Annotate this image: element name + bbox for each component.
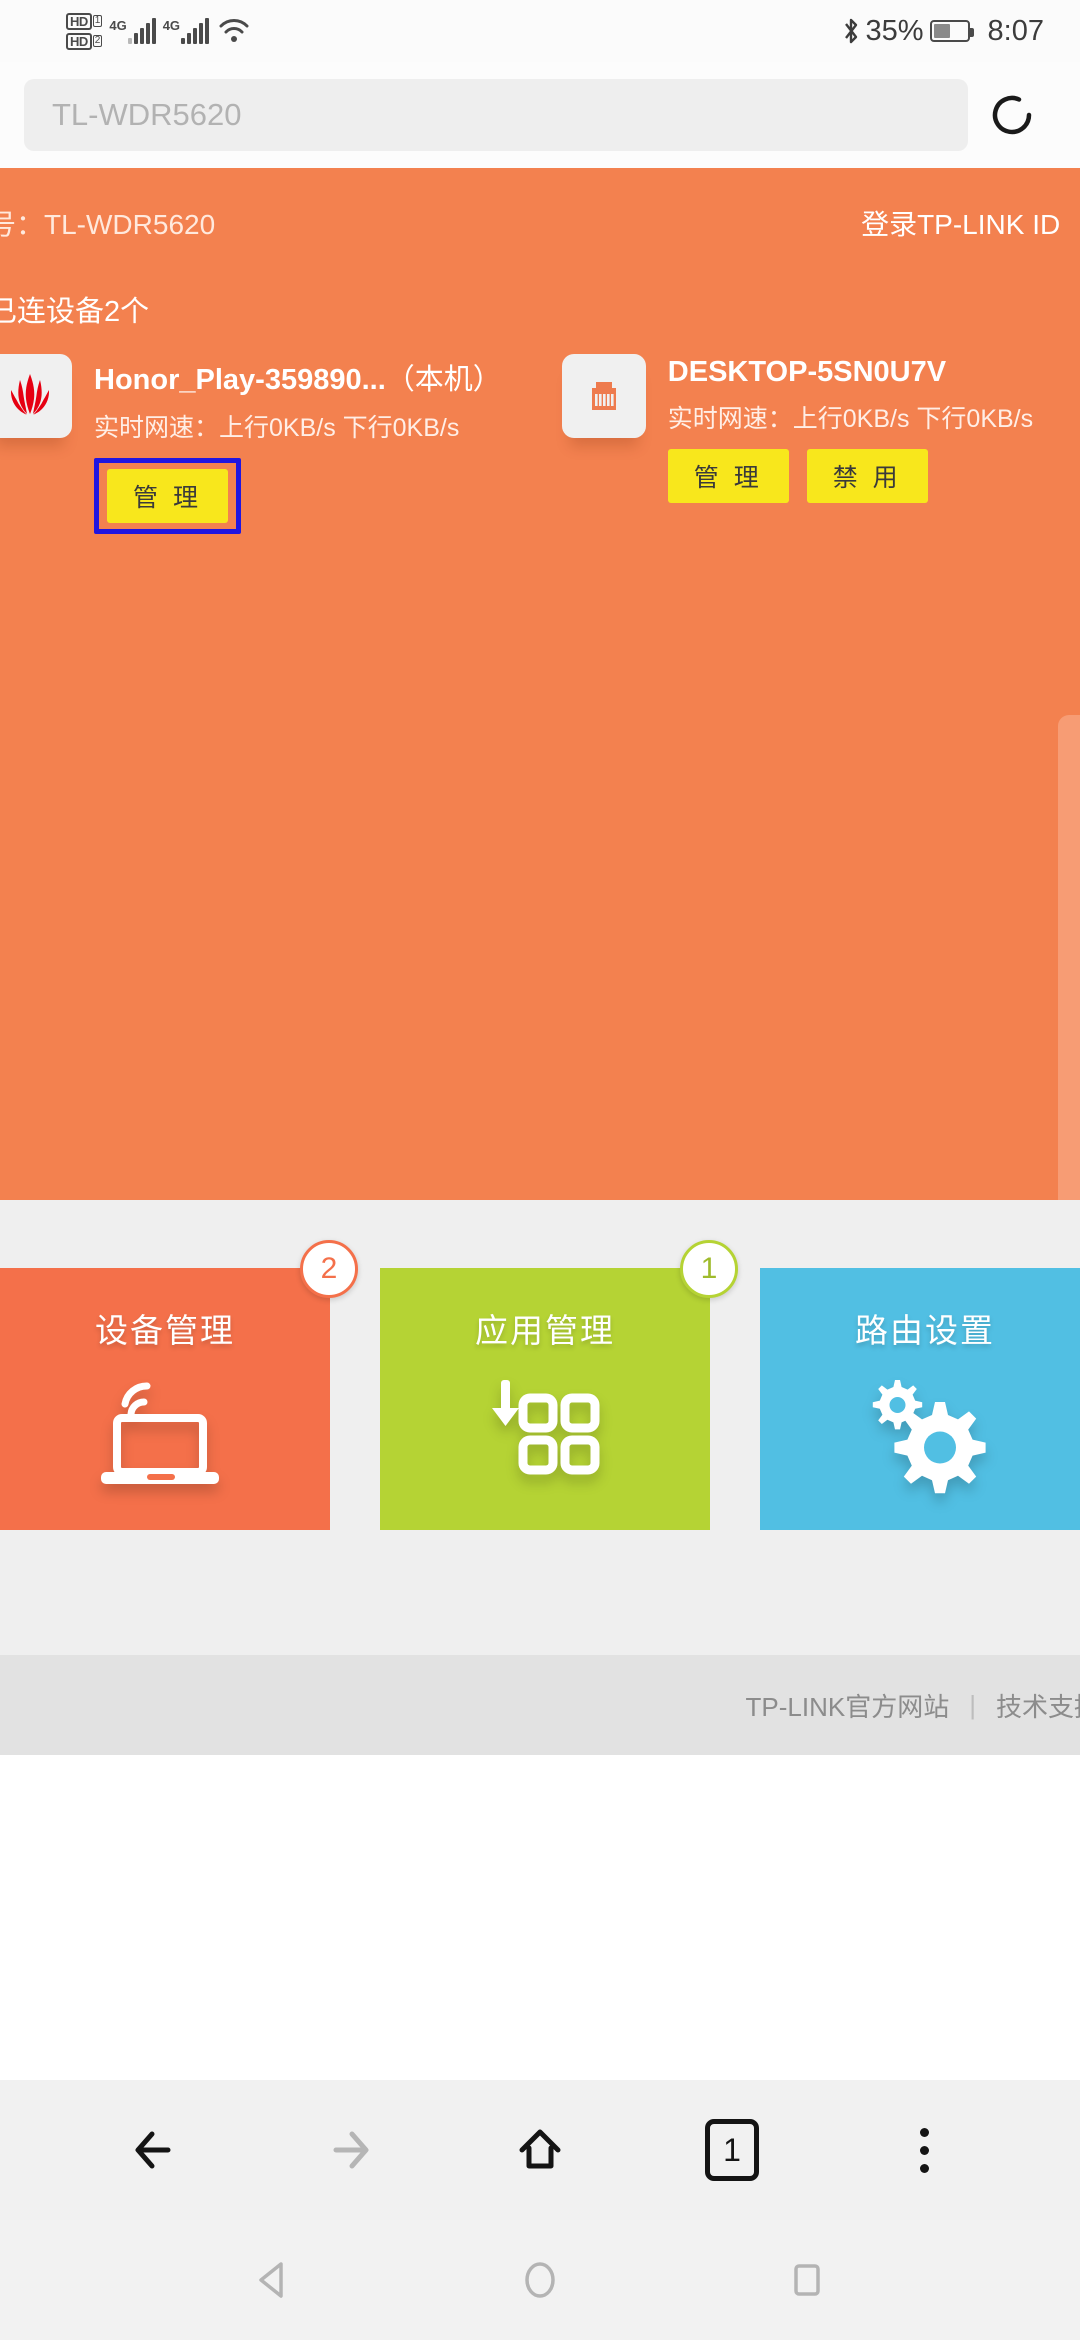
tile-device-management-label: 设备管理 <box>95 1304 235 1352</box>
hd1-sim-number: 1 <box>93 15 103 27</box>
network-type-1-label: 4G <box>109 18 126 33</box>
device-2-disable-button[interactable]: 禁 用 <box>807 449 928 503</box>
device-2-buttons: 管 理 禁 用 <box>668 449 1033 503</box>
ethernet-port-icon <box>562 354 646 438</box>
back-arrow-icon[interactable] <box>101 2095 211 2205</box>
status-bar-right: 35% 8:07 <box>842 15 1045 48</box>
connected-device-list: Honor_Play-359890...（本机） 实时网速：上行0KB/s 下行… <box>0 330 1080 534</box>
account-links: 登录TP-LINK ID 创建TP <box>861 203 1080 243</box>
footer-links: TP-LINK官方网站 | 技术支持热 <box>746 1687 1080 1724</box>
router-admin-orange-panel: 号：TL-WDR5620 登录TP-LINK ID 创建TP 已连设备2个 <box>0 168 1080 1200</box>
connected-device-count-label: 已连设备2个 <box>0 288 1080 330</box>
menu-tile-row: 2 设备管理 1 应用管理 <box>0 1200 1080 1530</box>
page-footer: TP-LINK官方网站 | 技术支持热 <box>0 1655 1080 1755</box>
url-text: TL-WDR5620 <box>52 97 242 133</box>
footer-divider: | <box>969 1690 976 1721</box>
device-1-manage-focus-ring: 管 理 <box>94 458 241 534</box>
router-header-row: 号：TL-WDR5620 登录TP-LINK ID 创建TP <box>0 168 1080 278</box>
device-1-info: Honor_Play-359890...（本机） 实时网速：上行0KB/s 下行… <box>94 354 502 534</box>
hd-sim2-icon: HD 2 <box>66 33 102 50</box>
device-1-speed: 实时网速：上行0KB/s 下行0KB/s <box>94 408 502 444</box>
tile-app-management[interactable]: 1 应用管理 <box>380 1268 710 1530</box>
device-1-self-tag: （本机） <box>386 364 502 396</box>
tile-device-management[interactable]: 2 设备管理 <box>0 1268 330 1530</box>
tile-app-management-label: 应用管理 <box>475 1304 615 1352</box>
battery-icon <box>930 20 970 42</box>
phone-screen: HD 1 HD 2 4G 4G <box>0 0 1080 2340</box>
device-2-name: DESKTOP-5SN0U7V <box>668 356 1033 389</box>
hd1-label: HD <box>66 13 92 30</box>
login-tplink-id-link[interactable]: 登录TP-LINK ID <box>861 203 1060 243</box>
signal-bars-1 <box>128 18 156 44</box>
page-blank-area <box>0 1755 1080 2080</box>
tile-router-settings-label: 路由设置 <box>855 1304 995 1352</box>
menu-tile-strip: 2 设备管理 1 应用管理 <box>0 1200 1080 1655</box>
router-model-label: 号：TL-WDR5620 <box>0 203 215 243</box>
device-card-desktop: DESKTOP-5SN0U7V 实时网速：上行0KB/s 下行0KB/s 管 理… <box>562 354 1033 534</box>
footer-official-site-link[interactable]: TP-LINK官方网站 <box>746 1687 950 1724</box>
status-bar: HD 1 HD 2 4G 4G <box>0 0 1080 62</box>
device-1-name: Honor_Play-359890...（本机） <box>94 356 502 398</box>
browser-toolbar: 1 <box>0 2080 1080 2220</box>
android-navigation-bar <box>0 2220 1080 2340</box>
nav-back-triangle-icon[interactable] <box>228 2235 318 2325</box>
tab-count-button[interactable]: 1 <box>677 2095 787 2205</box>
laptop-wifi-icon <box>95 1374 235 1499</box>
signal-bars-2 <box>181 18 209 44</box>
menu-dots <box>920 2128 929 2173</box>
signal-sim2-icon: 4G <box>163 18 209 44</box>
device-2-info: DESKTOP-5SN0U7V 实时网速：上行0KB/s 下行0KB/s 管 理… <box>668 354 1033 534</box>
wifi-icon <box>219 18 249 44</box>
gears-icon <box>855 1374 995 1499</box>
status-bar-left: HD 1 HD 2 4G 4G <box>66 0 249 62</box>
forward-arrow-icon <box>293 2095 403 2205</box>
tile-device-management-badge: 2 <box>300 1240 358 1298</box>
hd2-sim-number: 2 <box>93 35 103 47</box>
browser-url-bar: TL-WDR5620 <box>0 62 1080 168</box>
signal-sim1-icon: 4G <box>109 18 155 44</box>
nav-home-circle-icon[interactable] <box>495 2235 585 2325</box>
search-input[interactable]: TL-WDR5620 <box>24 79 968 151</box>
device-1-buttons: 管 理 <box>94 458 502 534</box>
tile-router-settings[interactable]: 路由设置 <box>760 1268 1080 1530</box>
nav-recents-square-icon[interactable] <box>762 2235 852 2325</box>
tab-count-label: 1 <box>705 2119 759 2181</box>
footer-support-hotline-link[interactable]: 技术支持热 <box>996 1687 1080 1724</box>
bluetooth-icon <box>842 17 860 45</box>
home-icon[interactable] <box>485 2095 595 2205</box>
reload-icon[interactable] <box>968 71 1056 159</box>
huawei-logo-icon <box>0 354 72 438</box>
dual-sim-hd-indicators: HD 1 HD 2 <box>66 13 102 50</box>
battery-percent-label: 35% <box>866 15 924 48</box>
device-2-manage-button[interactable]: 管 理 <box>668 449 789 503</box>
device-2-speed: 实时网速：上行0KB/s 下行0KB/s <box>668 399 1033 435</box>
tile-app-management-badge: 1 <box>680 1240 738 1298</box>
device-1-name-text: Honor_Play-359890... <box>94 364 386 396</box>
hd-sim1-icon: HD 1 <box>66 13 102 30</box>
device-card-honor-play: Honor_Play-359890...（本机） 实时网速：上行0KB/s 下行… <box>0 354 502 534</box>
more-vertical-icon[interactable] <box>869 2095 979 2205</box>
panel-caret-down-icon <box>34 1171 90 1200</box>
network-type-2-label: 4G <box>163 18 180 33</box>
page-vertical-scrollbar[interactable] <box>1058 715 1080 1200</box>
device-1-manage-button[interactable]: 管 理 <box>107 469 228 523</box>
status-bar-clock: 8:07 <box>988 15 1044 48</box>
app-grid-download-icon <box>475 1374 615 1499</box>
hd2-label: HD <box>66 33 92 50</box>
router-panel-content: 号：TL-WDR5620 登录TP-LINK ID 创建TP 已连设备2个 <box>0 168 1080 534</box>
